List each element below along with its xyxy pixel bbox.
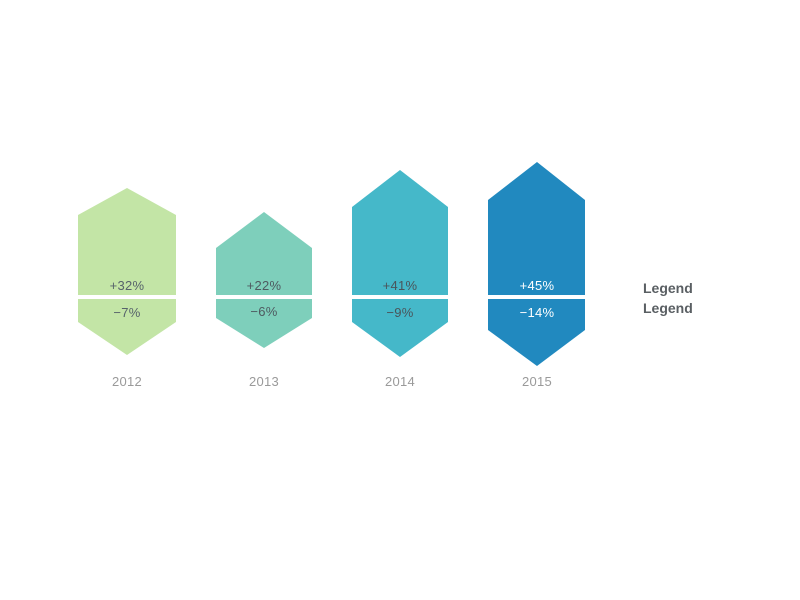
chart-canvas: +32% −7% 2012 +22% −6% 2013 +41% −9% 201… <box>0 0 800 600</box>
bar-negative-label-2012: −7% <box>113 305 140 320</box>
bar-negative-label-2014: −9% <box>386 305 413 320</box>
category-label-2015: 2015 <box>522 374 552 389</box>
chart-legend: Legend Legend <box>643 278 783 318</box>
legend-label-positive: Legend <box>643 280 693 296</box>
bar-group-2015[interactable]: +45% −14% 2015 <box>488 162 585 389</box>
bar-positive-2014[interactable] <box>352 170 448 295</box>
category-label-2012: 2012 <box>112 374 142 389</box>
legend-entry-positive[interactable]: Legend <box>643 278 783 298</box>
bar-positive-label-2014: +41% <box>383 278 418 293</box>
bar-group-2012[interactable]: +32% −7% 2012 <box>78 188 176 389</box>
legend-entry-negative[interactable]: Legend <box>643 298 783 318</box>
bar-positive-label-2013: +22% <box>247 278 282 293</box>
bar-positive-2015[interactable] <box>488 162 585 295</box>
category-label-2013: 2013 <box>249 374 279 389</box>
bar-negative-label-2015: −14% <box>520 305 555 320</box>
category-label-2014: 2014 <box>385 374 415 389</box>
bar-positive-label-2012: +32% <box>110 278 145 293</box>
bar-group-2013[interactable]: +22% −6% 2013 <box>216 212 312 389</box>
legend-label-negative: Legend <box>643 300 693 316</box>
bar-positive-label-2015: +45% <box>520 278 555 293</box>
bar-group-2014[interactable]: +41% −9% 2014 <box>352 170 448 389</box>
bar-negative-label-2013: −6% <box>250 304 277 319</box>
